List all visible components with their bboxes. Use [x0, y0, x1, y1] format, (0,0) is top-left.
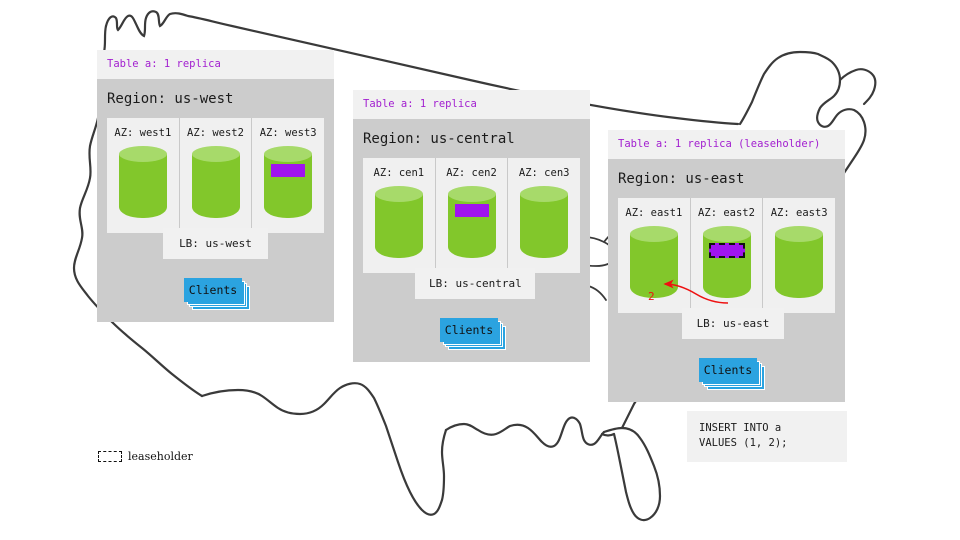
cylinder-top-ellipse [703, 226, 751, 242]
database-cylinder-east3[interactable] [775, 226, 823, 298]
region-panel-us-east: Table a: 1 replica (leaseholder) Region:… [608, 130, 845, 402]
region-title-us-east: Region: us-east [608, 159, 845, 198]
az-cell-east2[interactable]: AZ: east2 [690, 198, 763, 313]
region-title-us-central: Region: us-central [353, 119, 590, 158]
cylinder-body [192, 154, 240, 218]
cylinder-top-ellipse [264, 146, 312, 162]
az-label-west3: AZ: west3 [252, 127, 324, 139]
cylinder-top-ellipse [775, 226, 823, 242]
az-cell-east3[interactable]: AZ: east3 [762, 198, 835, 313]
cylinder-body [630, 234, 678, 298]
database-cylinder-cen2[interactable] [448, 186, 496, 258]
az-cell-cen3[interactable]: AZ: cen3 [507, 158, 580, 273]
database-cylinder-cen1[interactable] [375, 186, 423, 258]
az-strip-us-central: AZ: cen1 AZ: cen2 AZ: cen3 [363, 158, 580, 273]
clients-button-us-east[interactable]: Clients [699, 358, 757, 382]
az-cell-west1[interactable]: AZ: west1 [107, 118, 179, 233]
az-label-east3: AZ: east3 [763, 207, 835, 219]
region-header-us-east: Table a: 1 replica (leaseholder) [608, 130, 845, 159]
arrow-step-label: 2 [648, 290, 655, 303]
az-label-west2: AZ: west2 [180, 127, 252, 139]
cylinder-body [520, 194, 568, 258]
clients-stack-us-east[interactable]: Clients [699, 358, 765, 390]
legend-label: leaseholder [128, 450, 193, 463]
database-cylinder-west1[interactable] [119, 146, 167, 218]
cylinder-top-ellipse [192, 146, 240, 162]
cylinder-body [775, 234, 823, 298]
diagram-stage: Table a: 1 replica Region: us-west AZ: w… [0, 0, 960, 540]
cylinder-top-ellipse [520, 186, 568, 202]
load-balancer-us-west[interactable]: LB: us-west [163, 228, 268, 259]
az-label-east2: AZ: east2 [691, 207, 763, 219]
database-cylinder-cen3[interactable] [520, 186, 568, 258]
region-title-us-west: Region: us-west [97, 79, 334, 118]
region-panel-us-central: Table a: 1 replica Region: us-central AZ… [353, 90, 590, 362]
leaseholder-replica-marker-east2 [709, 243, 745, 258]
dashed-rectangle-icon [98, 451, 122, 462]
database-cylinder-east1[interactable] [630, 226, 678, 298]
cylinder-top-ellipse [448, 186, 496, 202]
az-strip-us-west: AZ: west1 AZ: west2 AZ: west3 [107, 118, 324, 233]
az-cell-west3[interactable]: AZ: west3 [251, 118, 324, 233]
cylinder-top-ellipse [119, 146, 167, 162]
clients-button-us-west[interactable]: Clients [184, 278, 242, 302]
database-cylinder-west3[interactable] [264, 146, 312, 218]
az-label-west1: AZ: west1 [107, 127, 179, 139]
region-header-us-central: Table a: 1 replica [353, 90, 590, 119]
clients-button-us-central[interactable]: Clients [440, 318, 498, 342]
cylinder-body [375, 194, 423, 258]
cylinder-top-ellipse [375, 186, 423, 202]
az-label-cen3: AZ: cen3 [508, 167, 580, 179]
region-header-us-west: Table a: 1 replica [97, 50, 334, 79]
az-cell-west2[interactable]: AZ: west2 [179, 118, 252, 233]
az-label-east1: AZ: east1 [618, 207, 690, 219]
database-cylinder-east2[interactable] [703, 226, 751, 298]
legend: leaseholder [98, 450, 193, 463]
replica-marker-cen2 [455, 204, 489, 217]
az-cell-cen2[interactable]: AZ: cen2 [435, 158, 508, 273]
az-cell-cen1[interactable]: AZ: cen1 [363, 158, 435, 273]
az-label-cen1: AZ: cen1 [363, 167, 435, 179]
load-balancer-us-east[interactable]: LB: us-east [682, 308, 784, 339]
sql-statement-box: INSERT INTO a VALUES (1, 2); [687, 411, 847, 462]
clients-stack-us-central[interactable]: Clients [440, 318, 506, 350]
replica-marker-west3 [271, 164, 305, 177]
clients-stack-us-west[interactable]: Clients [184, 278, 250, 310]
cylinder-top-ellipse [630, 226, 678, 242]
cylinder-body [119, 154, 167, 218]
az-label-cen2: AZ: cen2 [436, 167, 508, 179]
database-cylinder-west2[interactable] [192, 146, 240, 218]
load-balancer-us-central[interactable]: LB: us-central [415, 268, 535, 299]
region-panel-us-west: Table a: 1 replica Region: us-west AZ: w… [97, 50, 334, 322]
